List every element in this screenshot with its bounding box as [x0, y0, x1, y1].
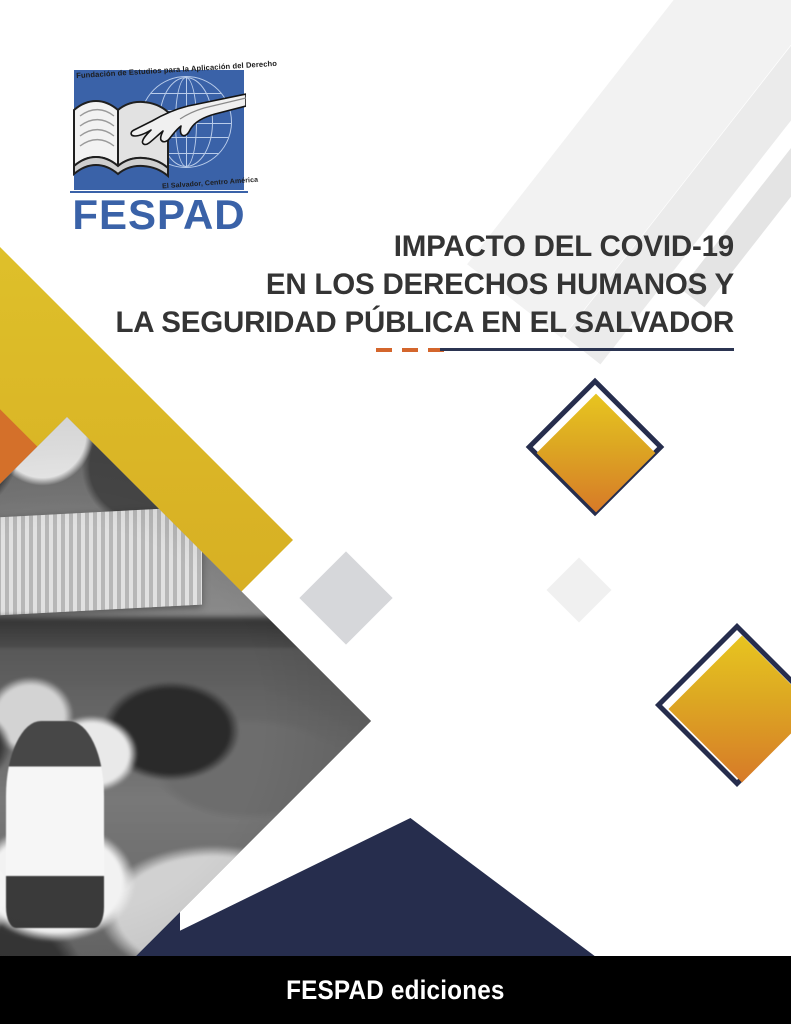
decor-gray-square-large: [299, 551, 392, 644]
title-rule: [376, 347, 734, 352]
title-rule-dashes: [376, 348, 444, 352]
diamond-upper-fill: [537, 394, 656, 513]
diamond-lower-right-fill: [668, 635, 791, 782]
title-line-1: IMPACTO DEL COVID-19: [110, 228, 734, 266]
footer-bar: FESPAD ediciones: [0, 956, 791, 1024]
title-line-2: EN LOS DERECHOS HUMANOS Y: [110, 266, 734, 304]
book-cover: Fundación de Estudios para la Aplicación…: [0, 0, 791, 1024]
imprint-label: FESPAD ediciones: [286, 975, 504, 1006]
title-line-3: LA SEGURIDAD PÚBLICA EN EL SALVADOR: [110, 304, 734, 342]
title-rule-solid: [440, 348, 734, 351]
fespad-logo: Fundación de Estudios para la Aplicación…: [66, 58, 252, 216]
hand-icon: [118, 92, 246, 150]
page-title: IMPACTO DEL COVID-19 EN LOS DERECHOS HUM…: [110, 228, 734, 342]
decor-gray-square-small: [546, 557, 611, 622]
